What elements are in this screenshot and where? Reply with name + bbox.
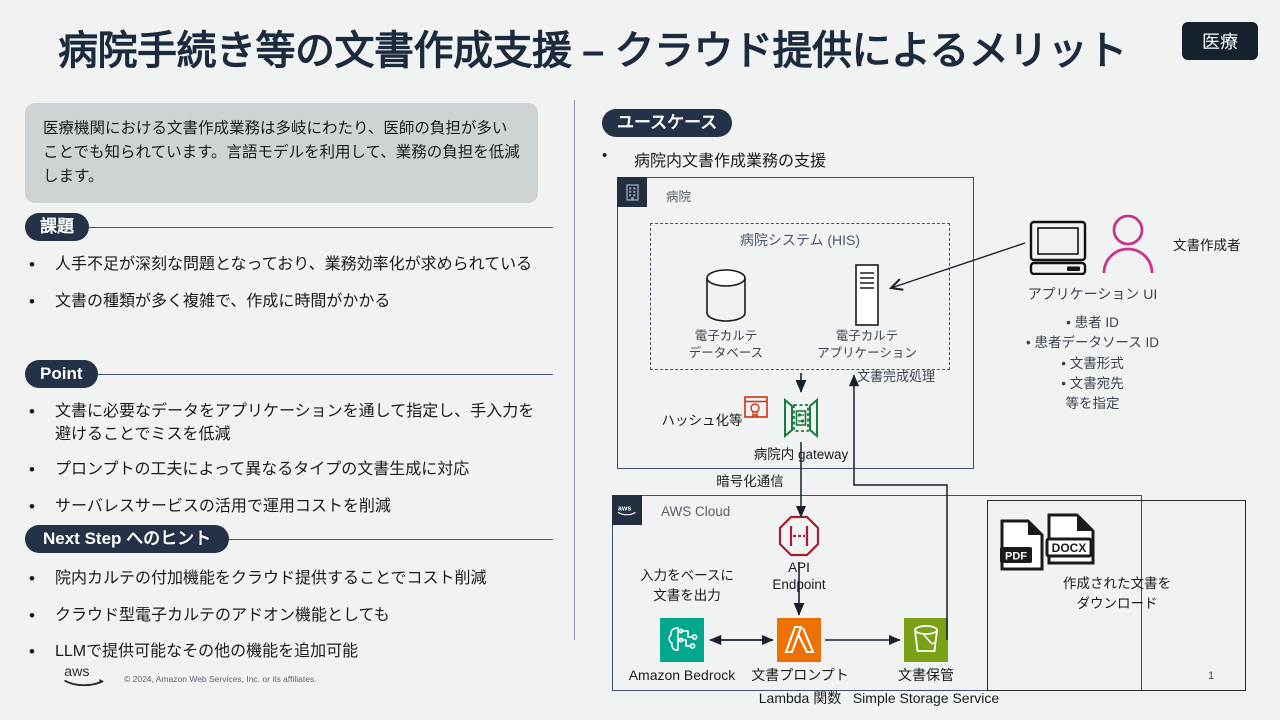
server-icon <box>850 263 884 327</box>
list-item: • 患者 ID <box>985 313 1200 333</box>
usecase-bullet-text: 病院内文書作成業務の支援 <box>634 147 826 171</box>
section-rule <box>25 374 553 375</box>
list-item: 等を指定 <box>985 394 1200 414</box>
svg-text:aws: aws <box>64 664 89 680</box>
list-item: • 院内カルテの付加機能をクラウド提供することでコスト削減 <box>25 567 560 592</box>
list-item-text: サーバレスサービスの活用で運用コストを削減 <box>55 495 391 518</box>
bullet-list-issue: • 人手不足が深刻な問題となっており、業務効率化が求められている • 文書の種類… <box>25 253 560 326</box>
bullet-marker: • <box>25 604 55 629</box>
database-icon <box>698 267 754 325</box>
section-pill-point: Point <box>25 360 98 388</box>
aws-frame-label: AWS Cloud <box>661 504 730 519</box>
api-endpoint-label-2: Endpoint <box>747 576 851 594</box>
pdf-label: PDF <box>1005 551 1027 563</box>
list-item: • 人手不足が深刻な問題となっており、業務効率化が求められている <box>25 253 560 278</box>
his-frame-label: 病院システム (HIS) <box>650 231 950 250</box>
docx-file-icon: DOCX <box>1045 513 1097 565</box>
summary-box: 医療機関における文書作成業務は多岐にわたり、医師の負担が多いことでも知られていま… <box>25 103 538 203</box>
list-item: • 患者データソース ID <box>985 333 1200 353</box>
list-item-text: 人手不足が深刻な問題となっており、業務効率化が求められている <box>55 253 532 276</box>
section-rule <box>25 227 553 228</box>
list-item: • 文書に必要なデータをアプリケーションを通して指定し、手入力を避けることでミス… <box>25 400 560 446</box>
user-person-icon <box>1100 213 1156 275</box>
ui-parameter-list: • 患者 ID • 患者データソース ID • 文書形式 • 文書宛先 等を指定 <box>985 313 1200 414</box>
bullet-list-point: • 文書に必要なデータをアプリケーションを通して指定し、手入力を避けることでミス… <box>25 400 560 532</box>
usecase-bullet: • 病院内文書作成業務の支援 <box>602 147 1002 171</box>
download-label-2: ダウンロード <box>995 595 1239 613</box>
section-header-issue: 課題 <box>25 213 553 243</box>
svg-text:aws: aws <box>618 506 631 513</box>
list-item-text: プロンプトの工夫によって異なるタイプの文書生成に対応 <box>55 458 469 481</box>
list-item-text: 文書の種類が多く複雑で、作成に時間がかかる <box>55 290 390 313</box>
s3-label-2: Simple Storage Service <box>840 689 1012 708</box>
section-pill-nextstep: Next Step へのヒント <box>25 525 229 553</box>
aws-lambda-icon <box>777 618 821 662</box>
list-item: • クラウド型電子カルテのアドオン機能としても <box>25 604 560 629</box>
right-column: ユースケース • 病院内文書作成業務の支援 病院 病院システム (HIS) <box>595 95 1280 715</box>
aws-logo-icon: aws <box>62 662 110 688</box>
column-divider <box>574 100 575 640</box>
bedrock-note-2: 文書を出力 <box>622 587 752 605</box>
bullet-marker: • <box>25 495 55 520</box>
section-header-nextstep: Next Step へのヒント <box>25 525 553 555</box>
list-item-text: 院内カルテの付加機能をクラウド提供することでコスト削減 <box>55 567 487 590</box>
section-header-point: Point <box>25 360 553 390</box>
bullet-marker: • <box>25 290 55 315</box>
list-item: • 文書の種類が多く複雑で、作成に時間がかかる <box>25 290 560 315</box>
author-label: 文書作成者 <box>1173 237 1280 255</box>
bullet-list-nextstep: • 院内カルテの付加機能をクラウド提供することでコスト削減 • クラウド型電子カ… <box>25 567 560 677</box>
ehr-app-label-2: アプリケーション <box>807 345 927 362</box>
bedrock-label: Amazon Bedrock <box>615 666 749 685</box>
docx-label: DOCX <box>1052 541 1087 555</box>
ehr-database-label-2: データベース <box>666 345 786 362</box>
list-item-text: LLMで提供可能なその他の機能を追加可能 <box>55 640 358 663</box>
aws-cloud-icon: aws <box>612 495 642 525</box>
api-gateway-icon <box>777 514 821 558</box>
encrypted-label: 暗号化通信 <box>690 473 810 491</box>
copyright-text: © 2024, Amazon Web Services, Inc. or its… <box>124 674 317 684</box>
ehr-database-label-1: 電子カルテ <box>666 328 786 345</box>
doc-complete-label: 文書完成処理 <box>857 368 977 386</box>
hospital-frame-label: 病院 <box>666 186 691 205</box>
pdf-file-icon: PDF <box>998 519 1046 571</box>
bedrock-note-1: 入力をベースに <box>622 567 752 585</box>
bullet-marker: • <box>25 458 55 483</box>
status-badge: 医療 <box>1182 22 1258 60</box>
section-pill-issue: 課題 <box>25 213 89 241</box>
app-ui-label: アプリケーション UI <box>985 285 1200 304</box>
bullet-marker: • <box>602 147 634 164</box>
page-title: 病院手続き等の文書作成支援 – クラウド提供によるメリット <box>58 18 1127 76</box>
lambda-label-1: 文書プロンプト <box>741 666 859 685</box>
section-pill-usecase: ユースケース <box>602 109 732 137</box>
left-column: 医療機関における文書作成業務は多岐にわたり、医師の負担が多いことでも知られていま… <box>0 95 575 695</box>
ehr-app-label-1: 電子カルテ <box>807 328 927 345</box>
hash-label: ハッシュ化等 <box>657 412 747 430</box>
bullet-marker: • <box>25 640 55 665</box>
list-item-text: クラウド型電子カルテのアドオン機能としても <box>55 604 390 627</box>
storage-gateway-icon <box>778 395 824 441</box>
hospital-icon <box>617 177 647 207</box>
list-item: • サーバレスサービスの活用で運用コストを削減 <box>25 495 560 520</box>
amazon-bedrock-icon <box>660 618 704 662</box>
list-item: • 文書形式 <box>985 354 1200 374</box>
gateway-label: 病院内 gateway <box>741 446 861 464</box>
s3-label-1: 文書保管 <box>869 666 983 685</box>
list-item: • プロンプトの工夫によって異なるタイプの文書生成に対応 <box>25 458 560 483</box>
bullet-marker: • <box>25 253 55 278</box>
desktop-computer-icon <box>1027 219 1089 275</box>
bullet-marker: • <box>25 400 55 425</box>
amazon-s3-icon <box>904 618 948 662</box>
download-label-1: 作成された文書を <box>995 575 1239 593</box>
list-item: • 文書宛先 <box>985 374 1200 394</box>
list-item-text: 文書に必要なデータをアプリケーションを通して指定し、手入力を避けることでミスを低… <box>55 400 545 446</box>
api-endpoint-label-1: API <box>747 559 851 577</box>
bullet-marker: • <box>25 567 55 592</box>
